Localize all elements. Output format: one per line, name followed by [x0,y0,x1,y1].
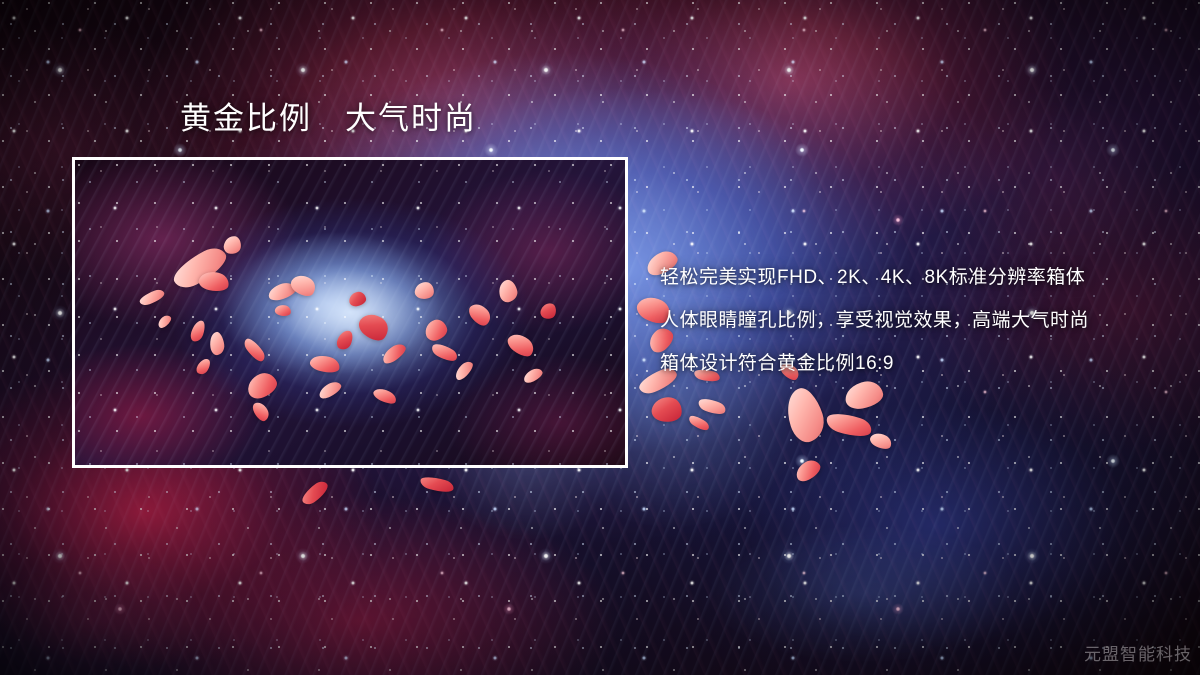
flower-petal-icon [868,430,894,452]
flower-petal-icon [650,395,684,425]
body-copy-line: 轻松完美实现FHD、2K、4K、8K标准分辨率箱体 [660,256,1180,299]
body-copy: 轻松完美实现FHD、2K、4K、8K标准分辨率箱体人体眼睛瞳孔比例，享受视觉效果… [660,256,1180,385]
watermark: 元盟智能科技 [1084,640,1192,665]
body-copy-line: 箱体设计符合黄金比例16:9 [660,342,1180,385]
presentation-slide: 黄金比例 大气时尚 轻松完美实现FHD、2K、4K、8K标准分辨率箱体人体眼睛瞳… [0,0,1200,675]
slide-title: 黄金比例 大气时尚 [180,100,477,137]
flower-petal-icon [697,395,728,418]
picture-frame [72,157,628,468]
flower-petal-icon [687,413,711,434]
flower-petal-icon [299,479,331,508]
flower-petal-icon [792,457,823,485]
flower-petal-icon [780,384,829,446]
flower-petal-icon [824,408,874,441]
body-copy-line: 人体眼睛瞳孔比例，享受视觉效果，高端大气时尚 [660,299,1180,342]
flower-petal-icon [419,474,455,496]
